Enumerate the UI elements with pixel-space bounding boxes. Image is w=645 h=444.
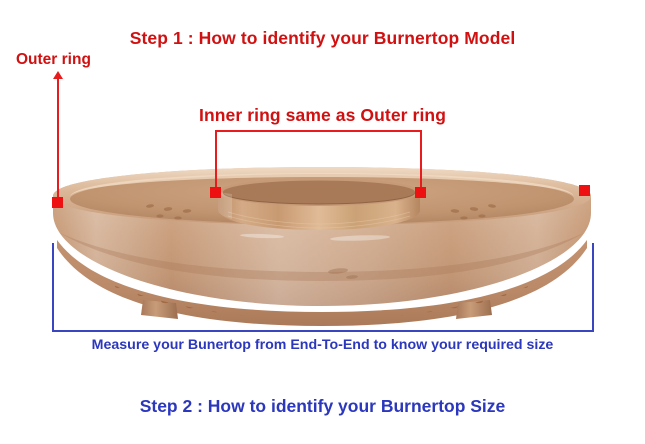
inner-ring-leader-right bbox=[420, 130, 422, 189]
outer-ring-arrow-head bbox=[53, 71, 63, 79]
inner-ring-marker-left bbox=[210, 187, 221, 198]
outer-ring-arrow-shaft bbox=[57, 79, 59, 201]
inner-ring-label: Inner ring same as Outer ring bbox=[0, 105, 645, 126]
measure-bracket-bottom bbox=[52, 330, 594, 332]
inner-ring-leader-left bbox=[215, 130, 217, 189]
step1-heading: Step 1 : How to identify your Burnertop … bbox=[0, 28, 645, 49]
measure-bracket-left bbox=[52, 243, 54, 332]
measure-caption: Measure your Bunertop from End-To-End to… bbox=[0, 337, 645, 353]
burnertop-illustration bbox=[0, 0, 645, 444]
outer-ring-label: Outer ring bbox=[16, 51, 91, 69]
inner-ring-marker-right bbox=[415, 187, 426, 198]
outer-ring-marker-right bbox=[579, 185, 590, 196]
guide-page: Step 1 : How to identify your Burnertop … bbox=[0, 0, 645, 444]
step2-heading: Step 2 : How to identify your Burnertop … bbox=[0, 396, 645, 417]
outer-ring-marker-left bbox=[52, 197, 63, 208]
inner-ring-connector bbox=[215, 130, 422, 132]
measure-bracket-right bbox=[592, 243, 594, 332]
